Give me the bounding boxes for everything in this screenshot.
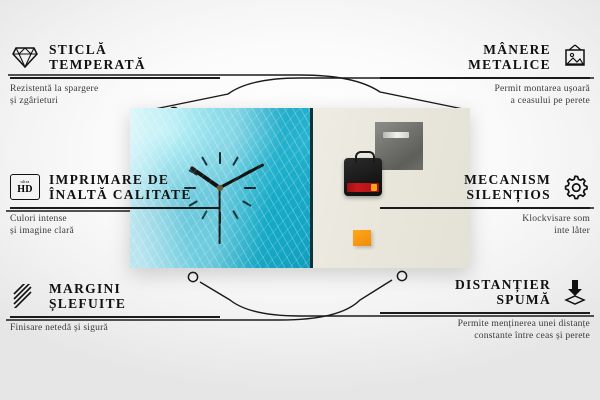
feature-silent-mechanism: MECANISM SILENȚIOS Klockvisare som inte … xyxy=(380,172,590,237)
ultra-hd-badge: ultra HD xyxy=(10,174,40,200)
feature-header: ultra HD IMPRIMARE DE ÎNALTĂ CALITATE xyxy=(10,172,220,202)
ultra-hd-large-text: HD xyxy=(17,185,33,195)
feature-subtitle: Rezistentă la spargere și zgârieturi xyxy=(10,83,220,108)
down-arrow-pad-icon xyxy=(560,277,590,307)
feature-titles: MÂNERE METALICE xyxy=(468,42,551,72)
gear-icon xyxy=(560,172,590,202)
feature-foam-spacer: DISTANȚIER SPUMĂ Permite menținerea unei… xyxy=(380,277,590,342)
feature-title-line2: ȘLEFUITE xyxy=(49,296,126,311)
feature-title-line1: MECANISM xyxy=(464,172,551,187)
infographic-stage: STICLĂ TEMPERATĂ Rezistentă la spargere … xyxy=(0,0,600,400)
feature-subtitle: Klockvisare som inte låter xyxy=(380,213,590,238)
battery xyxy=(347,183,379,192)
feature-subtitle-line2: și imagine clară xyxy=(10,225,220,237)
feature-subtitle-line1: Finisare netedă și sigură xyxy=(10,322,220,334)
ultra-hd-icon: ultra HD xyxy=(10,172,40,202)
metal-hanger-plate xyxy=(375,122,423,170)
picture-frame-icon xyxy=(560,42,590,72)
feature-subtitle-line2: inte låter xyxy=(380,225,590,237)
feature-titles: MECANISM SILENȚIOS xyxy=(464,172,551,202)
feature-subtitle-line1: Klockvisare som xyxy=(380,213,590,225)
feature-title-line2: TEMPERATĂ xyxy=(49,57,146,72)
feature-divider xyxy=(380,312,590,313)
feature-header: MECANISM SILENȚIOS xyxy=(380,172,590,202)
feature-title-line2: METALICE xyxy=(468,57,551,72)
feature-subtitle: Finisare netedă și sigură xyxy=(10,322,220,334)
feature-header: MARGINI ȘLEFUITE xyxy=(10,281,220,311)
diamond-icon xyxy=(10,42,40,72)
feature-divider xyxy=(10,316,220,317)
feature-titles: STICLĂ TEMPERATĂ xyxy=(49,42,146,72)
feature-subtitle-line2: constante între ceas și perete xyxy=(380,330,590,342)
feature-subtitle-line2: a ceasului pe perete xyxy=(380,95,590,107)
feature-header: STICLĂ TEMPERATĂ xyxy=(10,42,220,72)
feature-subtitle-line1: Permite menținerea unei distanțe xyxy=(380,318,590,330)
feature-titles: DISTANȚIER SPUMĂ xyxy=(455,277,551,307)
feature-subtitle-line1: Culori intense xyxy=(10,213,220,225)
feature-tempered-glass: STICLĂ TEMPERATĂ Rezistentă la spargere … xyxy=(10,42,220,107)
feature-title-line2: ÎNALTĂ CALITATE xyxy=(49,187,192,202)
feature-subtitle: Permite menținerea unei distanțe constan… xyxy=(380,318,590,343)
feature-divider xyxy=(380,207,590,208)
feature-subtitle-line2: și zgârieturi xyxy=(10,95,220,107)
feature-title-line1: DISTANȚIER xyxy=(455,277,551,292)
feature-title-line1: MARGINI xyxy=(49,281,126,296)
polished-edges-icon xyxy=(10,281,40,311)
feature-header: MÂNERE METALICE xyxy=(380,42,590,72)
feature-title-line2: SILENȚIOS xyxy=(464,187,551,202)
feature-title-line1: IMPRIMARE DE xyxy=(49,172,192,187)
feature-header: DISTANȚIER SPUMĂ xyxy=(380,277,590,307)
feature-titles: MARGINI ȘLEFUITE xyxy=(49,281,126,311)
feature-subtitle-line1: Rezistentă la spargere xyxy=(10,83,220,95)
feature-title-line1: STICLĂ xyxy=(49,42,146,57)
hanger-loop-icon xyxy=(355,151,375,163)
feature-polished-edges: MARGINI ȘLEFUITE Finisare netedă și sigu… xyxy=(10,281,220,334)
feature-divider xyxy=(10,207,220,208)
feature-metal-handles: MÂNERE METALICE Permit montarea ușoară a… xyxy=(380,42,590,107)
foam-spacer-pad xyxy=(353,230,371,246)
feature-title-line2: SPUMĂ xyxy=(455,292,551,307)
clock-minute-hand xyxy=(219,163,265,189)
feature-high-quality-print: ultra HD IMPRIMARE DE ÎNALTĂ CALITATE Cu… xyxy=(10,172,220,237)
feature-subtitle: Permit montarea ușoară a ceasului pe per… xyxy=(380,83,590,108)
feature-title-line1: MÂNERE xyxy=(468,42,551,57)
feature-subtitle: Culori intense și imagine clară xyxy=(10,213,220,238)
feature-titles: IMPRIMARE DE ÎNALTĂ CALITATE xyxy=(49,172,192,202)
feature-divider xyxy=(10,77,220,78)
clock-mechanism xyxy=(344,158,382,196)
feature-subtitle-line1: Permit montarea ușoară xyxy=(380,83,590,95)
feature-divider xyxy=(380,77,590,78)
